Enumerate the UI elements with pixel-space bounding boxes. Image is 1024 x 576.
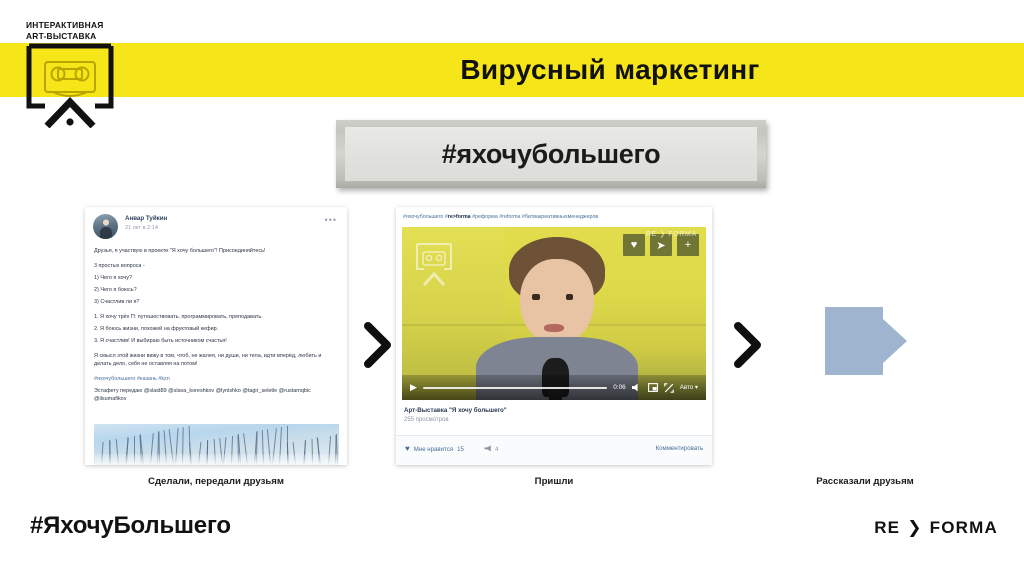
brand-line2-bold: ВЫСТАВКА — [47, 31, 97, 41]
video-views-count: 255 просмотров — [404, 417, 449, 423]
like-action[interactable]: ♥ Мне нравится 15 — [405, 445, 464, 453]
post-author-name[interactable]: Анвар Туйкин — [125, 215, 167, 222]
video-control-bar[interactable]: ▶ 0:06 Авто ▾ — [402, 375, 706, 400]
fullscreen-icon[interactable] — [664, 383, 674, 393]
post-photo[interactable] — [94, 424, 339, 465]
progress-bar[interactable] — [423, 387, 607, 389]
video-post-card[interactable]: #яхочубольшего #re>forma #реформа #refor… — [396, 207, 712, 465]
quality-selector[interactable]: Авто ▾ — [680, 384, 698, 391]
post-answer-3: 3. Я счастлив! И выбираю быть источником… — [94, 337, 339, 345]
time-code: 0:06 — [613, 384, 625, 391]
slide-root: Вирусный маркетинг ИНТЕРАКТИВНАЯ ART-ВЫС… — [0, 0, 1024, 576]
subject-mouth — [544, 324, 564, 332]
post-answer-1: 1. Я хочу трёх П: путешествовать, програ… — [94, 313, 339, 321]
brand-logo: ИНТЕРАКТИВНАЯ ART-ВЫСТАВКА — [18, 20, 128, 125]
comment-button[interactable]: Комментировать — [656, 445, 703, 452]
footer-hashtag: #ЯхочуБольшего — [30, 512, 231, 540]
hashtag-plate-text: #яхочубольшего — [442, 139, 661, 170]
footer-logo-forma: FORMA — [930, 518, 998, 538]
video-watermark-logo-icon — [414, 241, 454, 287]
cassette-tape-icon — [25, 42, 103, 100]
post-question-1: 1) Чего я хочу? — [94, 274, 339, 282]
hashtag-plate-inner: #яхочубольшего — [345, 127, 757, 181]
hashtag-plate: #яхочубольшего — [336, 120, 766, 188]
video-hashtags-brand: re>forma — [448, 214, 471, 220]
volume-icon[interactable] — [632, 383, 642, 392]
share-action[interactable]: 4 — [484, 445, 498, 454]
post-timestamp: 21 окт в 2:14 — [125, 225, 158, 231]
subject-eye-right — [566, 294, 574, 300]
post-answer-2: 2. Я боюсь жизни, похожей на фруктовый к… — [94, 325, 339, 333]
post-questions-title: 3 простых вопроса - — [94, 262, 339, 270]
social-post-card[interactable]: Анвар Туйкин 21 окт в 2:14 ••• Друзья, я… — [85, 207, 347, 465]
reforma-watermark: RE ❯ FORMA — [646, 230, 697, 238]
step-caption-3: Рассказали друзьям — [740, 476, 990, 487]
video-hashtags[interactable]: #яхочубольшего #re>forma #реформа #refor… — [403, 213, 706, 221]
brand-wordmark: ИНТЕРАКТИВНАЯ ART-ВЫСТАВКА — [26, 20, 104, 41]
video-title[interactable]: Арт-Выставка "Я хочу большего" — [404, 407, 507, 414]
post-closing: Я смысл этой жизни вижу в том, чтоб, не … — [94, 352, 339, 368]
megaphone-icon — [484, 445, 492, 454]
post-header: Анвар Туйкин 21 окт в 2:14 ••• — [93, 214, 339, 242]
step-caption-2: Пришли — [396, 476, 712, 487]
post-photo-snow — [94, 454, 339, 465]
post-intro: Друзья, я участвую в проекте "Я хочу бол… — [94, 247, 339, 255]
post-body: Друзья, я участвую в проекте "Я хочу бол… — [94, 247, 339, 407]
subject-eye-left — [532, 294, 540, 300]
video-hashtags-pre: #яхочубольшего # — [403, 214, 448, 220]
share-forward-icon — [823, 305, 909, 377]
play-icon[interactable]: ▶ — [410, 383, 417, 392]
share-count: 4 — [495, 446, 498, 453]
avatar — [93, 214, 118, 239]
like-label: Мне нравится — [414, 446, 453, 453]
footer-logo-re: RE — [874, 518, 900, 538]
subject-face — [520, 259, 594, 345]
post-mentions[interactable]: Эстафету передаю @slaid89 @slava_koreshk… — [94, 387, 339, 403]
brand-line1: ИНТЕРАКТИВНАЯ — [26, 20, 104, 30]
step-caption-1: Сделали, передали друзьям — [85, 476, 347, 487]
post-hashtags[interactable]: #яхочубольшего #казань #kzn — [94, 375, 339, 383]
heart-icon: ♥ — [405, 445, 410, 453]
footer-logo-chevron-icon: ❯ — [907, 518, 922, 538]
post-question-2: 2) Чего я боюсь? — [94, 286, 339, 294]
post-question-3: 3) Счастлив ли я? — [94, 298, 339, 306]
brand-line2-light: ART- — [26, 31, 47, 41]
page-title: Вирусный маркетинг — [330, 43, 890, 97]
chevron-right-icon-2 — [733, 322, 763, 368]
video-player[interactable]: ♥ ➤ + RE ❯ FORMA ▶ 0:06 Авто ▾ — [402, 227, 706, 400]
like-count: 15 — [457, 446, 464, 453]
like-button[interactable]: ♥ — [623, 234, 645, 256]
picture-in-picture-icon[interactable] — [648, 383, 658, 392]
video-footer: ♥ Мне нравится 15 4 Комментировать — [396, 435, 712, 465]
chevron-right-icon — [363, 322, 393, 368]
post-menu-icon[interactable]: ••• — [325, 216, 337, 224]
video-hashtags-post: #реформа #reforma #битвакреативныхменедж… — [471, 214, 599, 220]
footer-logo: RE ❯ FORMA — [874, 518, 998, 538]
